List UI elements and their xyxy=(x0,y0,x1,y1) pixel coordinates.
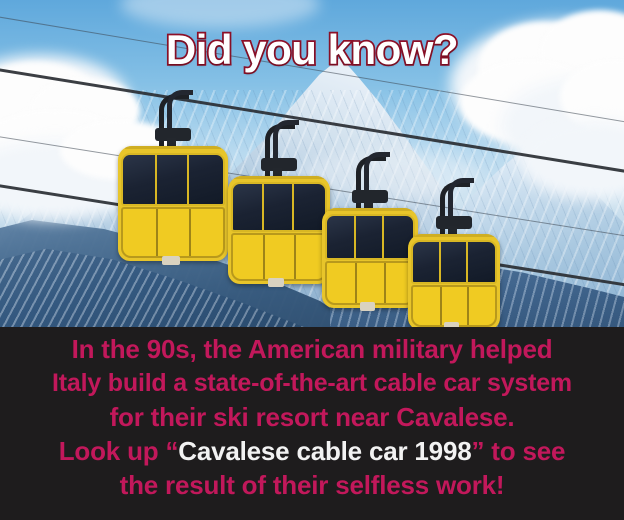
photo-scene: Did you know? xyxy=(0,0,624,327)
caption-line-5: the result of their selfless work! xyxy=(0,468,624,502)
gondola-window xyxy=(121,153,224,206)
gondola-body xyxy=(228,176,330,284)
caption-line-1: In the 90s, the American military helped xyxy=(0,332,624,366)
gondola-body xyxy=(118,146,228,261)
meme-image: Did you know? In the 90s, the American m… xyxy=(0,0,624,520)
cloud xyxy=(120,0,320,28)
caption-search-term: Cavalese cable car 1998 xyxy=(178,436,471,466)
gondola-window xyxy=(411,240,497,284)
gondola-lower-panel xyxy=(231,233,327,281)
gondola-hanger-arm xyxy=(350,150,390,212)
gondola-body xyxy=(322,208,418,308)
gondola-hanger-arm xyxy=(434,176,474,238)
caption-line-4: Look up “Cavalese cable car 1998” to see xyxy=(0,434,624,468)
gondola-lower-panel xyxy=(325,261,415,305)
gondola-hanger-arm xyxy=(153,88,193,150)
gondola-body xyxy=(408,234,500,327)
caption-line-4-before: Look up “ xyxy=(59,436,179,466)
gondola-lower-panel xyxy=(121,207,224,258)
caption-line-4-after: ” to see xyxy=(471,436,565,466)
caption-line-3: for their ski resort near Cavalese. xyxy=(0,400,624,434)
caption-line-2: Italy build a state-of-the-art cable car… xyxy=(0,366,624,400)
gondola-lower-panel xyxy=(411,285,497,327)
page-title: Did you know? xyxy=(0,26,624,74)
gondola-window xyxy=(231,182,327,232)
gondola-window xyxy=(325,214,415,260)
caption-panel: In the 90s, the American military helped… xyxy=(0,327,624,520)
gondola-hanger-arm xyxy=(259,118,299,180)
